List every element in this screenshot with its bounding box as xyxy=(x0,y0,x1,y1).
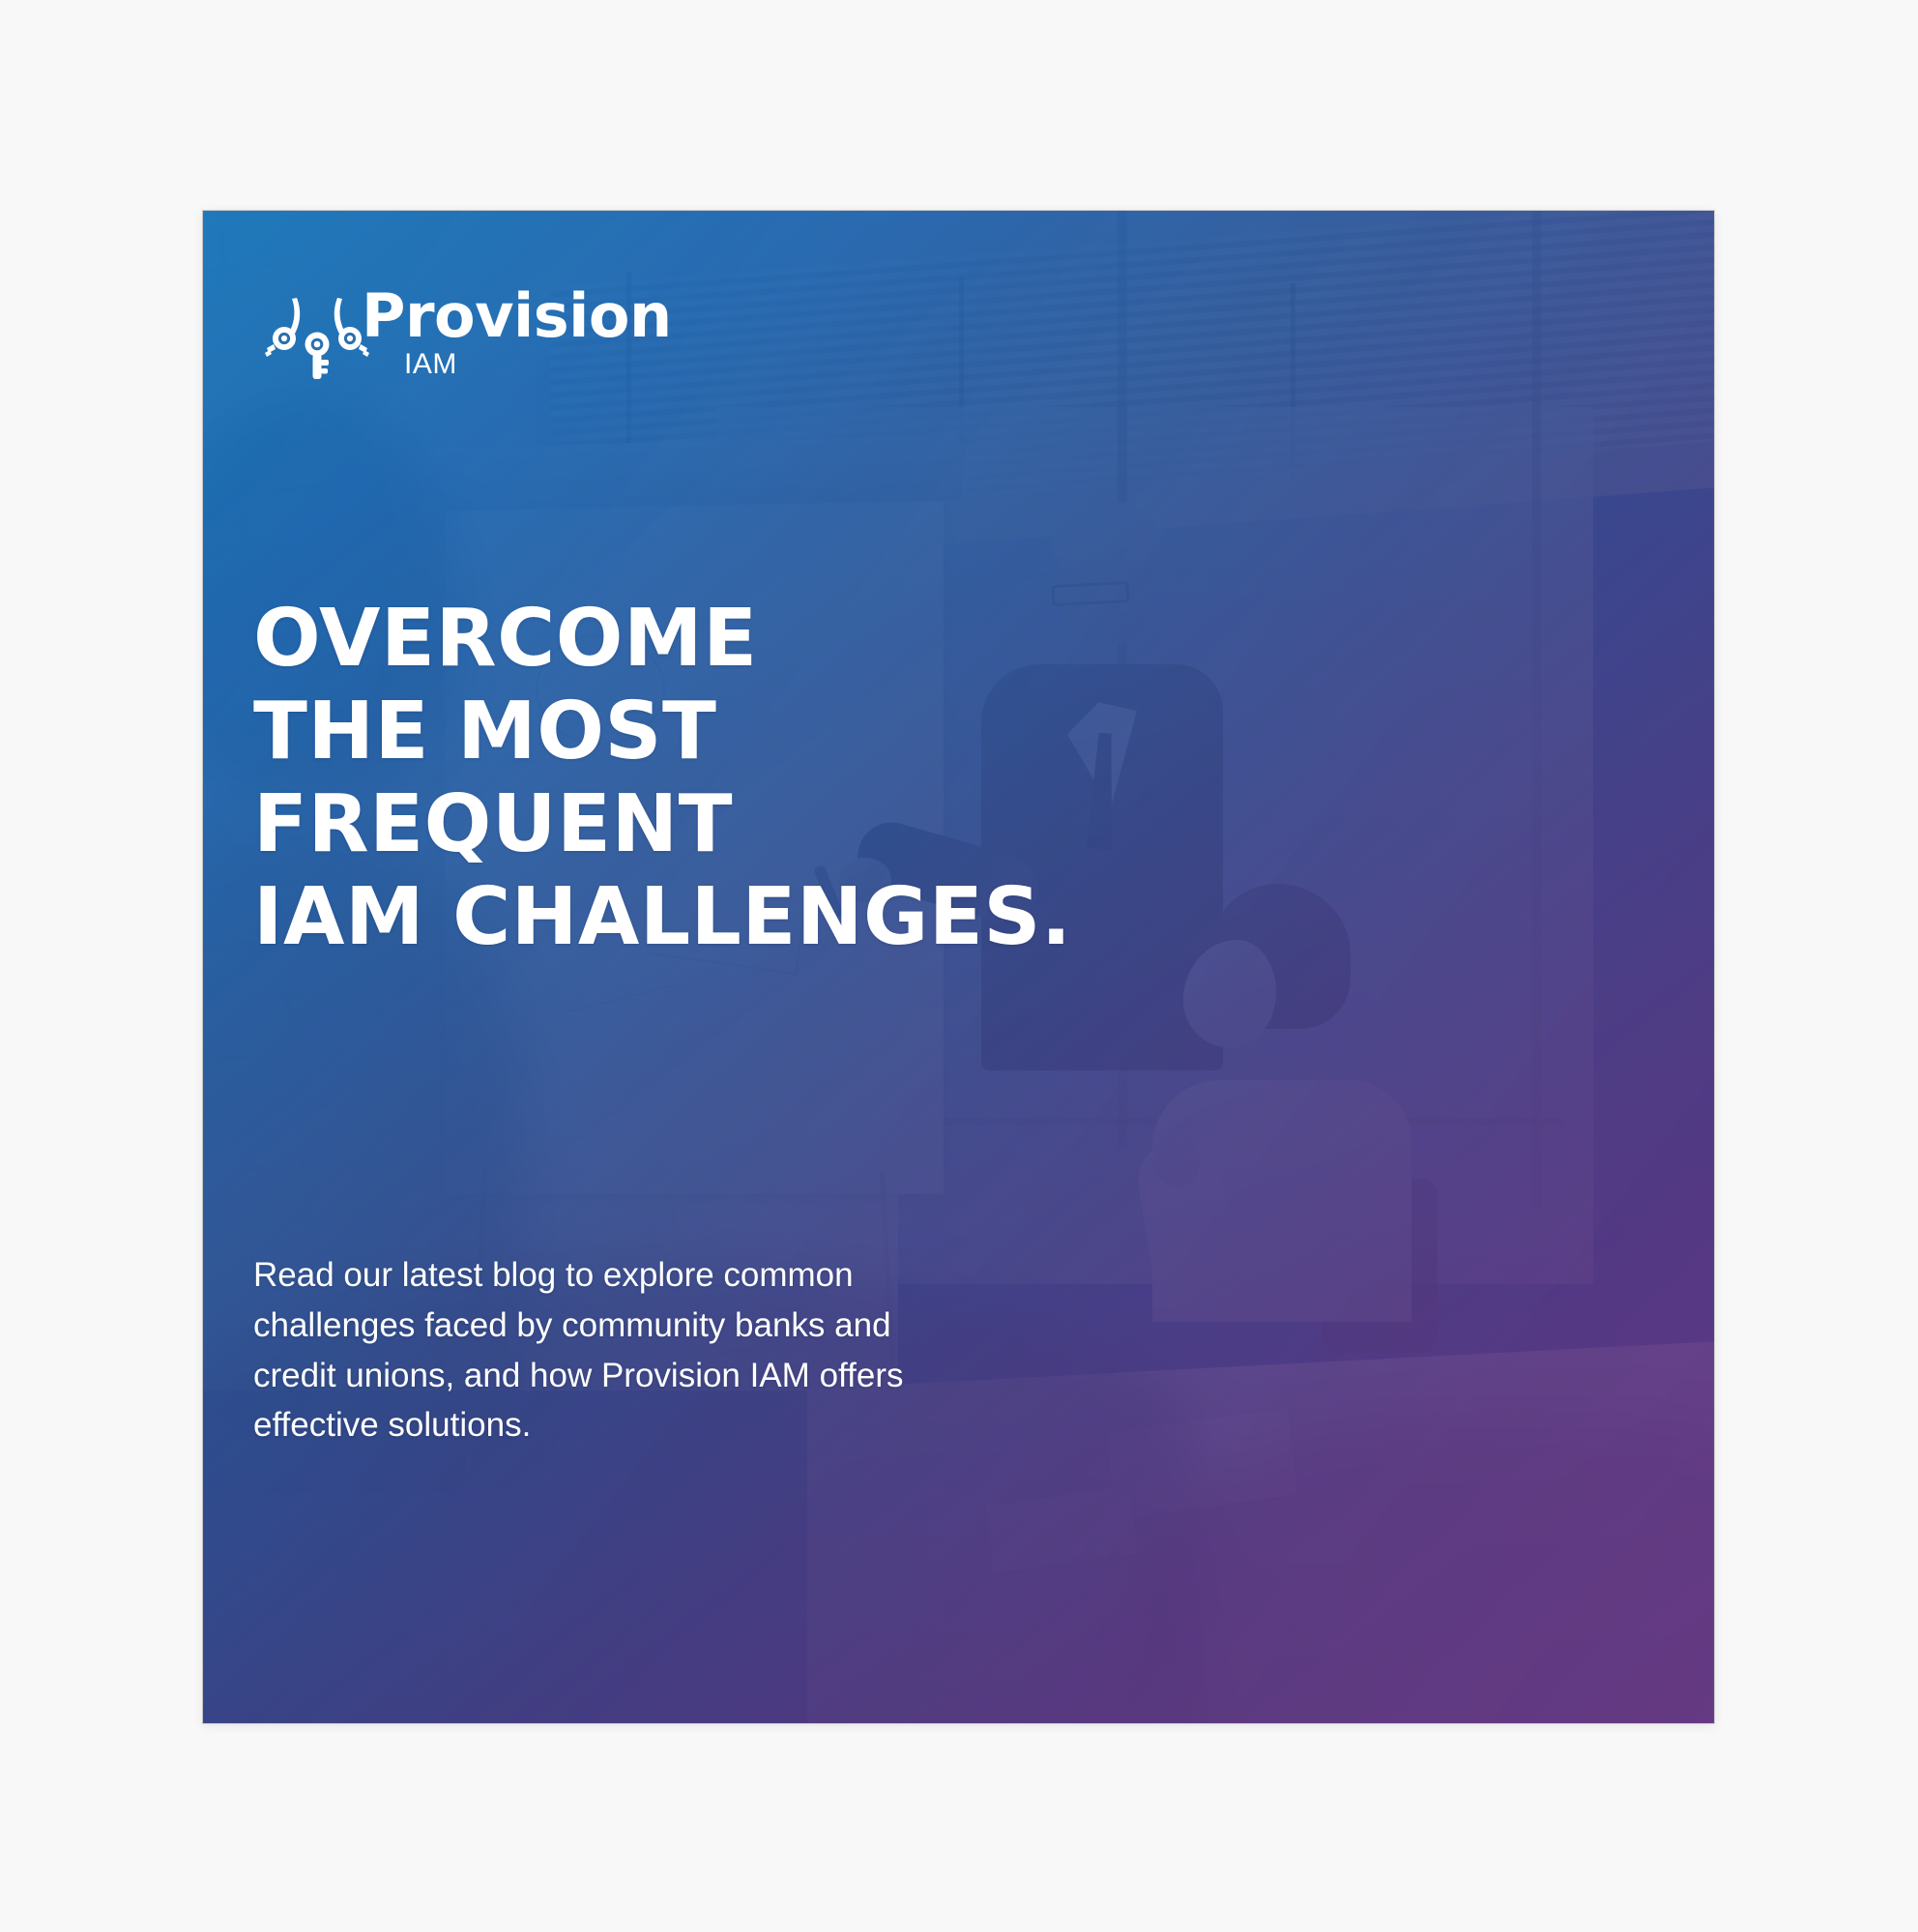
body-paragraph: Read our latest blog to explore common c… xyxy=(253,1250,920,1450)
body-line-2: challenges faced by community banks and xyxy=(253,1301,920,1351)
logo-subtitle: IAM xyxy=(404,350,672,379)
headline: OVERCOME THE MOST FREQUENT IAM CHALLENGE… xyxy=(253,593,1123,964)
card-content: Provision IAM OVERCOME THE MOST FREQUENT… xyxy=(203,211,1714,1723)
headline-line-4: IAM CHALLENGES. xyxy=(253,871,1123,964)
logo-name: Provision xyxy=(362,286,672,346)
three-keys-icon xyxy=(263,290,371,383)
headline-line-2: THE MOST xyxy=(253,686,1123,778)
social-promo-card: Provision IAM OVERCOME THE MOST FREQUENT… xyxy=(203,211,1714,1723)
logo-wordmark: Provision IAM xyxy=(362,286,672,379)
headline-line-1: OVERCOME xyxy=(253,593,1123,686)
body-line-3: credit unions, and how Provision IAM off… xyxy=(253,1351,920,1401)
headline-line-3: FREQUENT xyxy=(253,778,1123,871)
provision-iam-logo[interactable]: Provision IAM xyxy=(263,286,672,379)
body-line-1: Read our latest blog to explore common xyxy=(253,1250,920,1301)
body-line-4: effective solutions. xyxy=(253,1400,920,1450)
